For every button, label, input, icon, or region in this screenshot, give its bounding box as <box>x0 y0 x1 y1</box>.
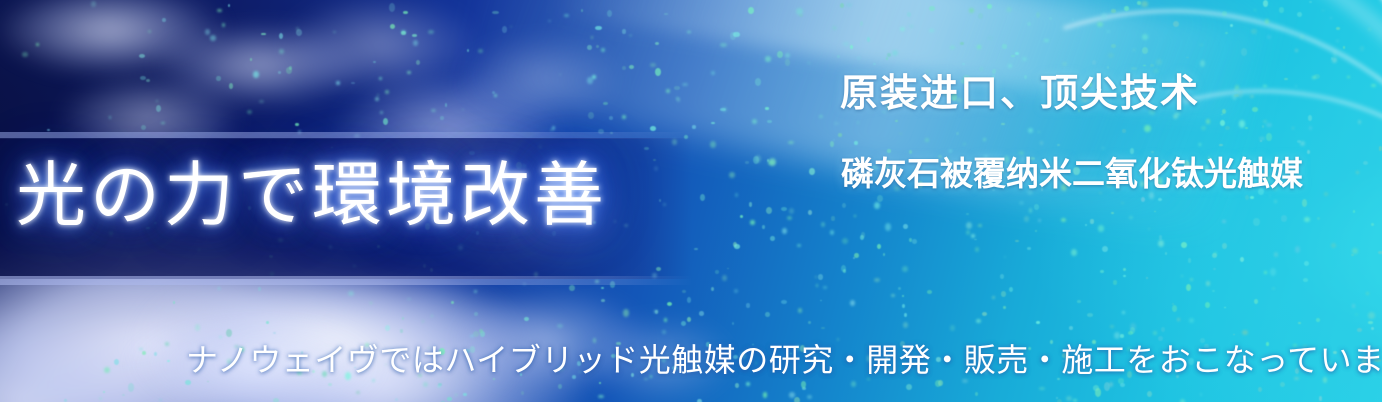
headline-japanese: 光の力で環境改善 <box>16 160 608 230</box>
tagline-chinese-primary: 原装进口、顶尖技术 <box>840 74 1200 112</box>
tagline-chinese-secondary: 磷灰石被覆纳米二氧化钛光触媒 <box>841 157 1303 190</box>
subtitle-japanese: ナノウェイヴではハイブリッド光触媒の研究・開発・販売・施工をおこなっています <box>186 344 1382 376</box>
hero-banner: 光の力で環境改善 原装进口、顶尖技术 磷灰石被覆纳米二氧化钛光触媒 ナノウェイヴ… <box>0 0 1382 402</box>
headline-band-bottom-edge <box>0 276 692 285</box>
